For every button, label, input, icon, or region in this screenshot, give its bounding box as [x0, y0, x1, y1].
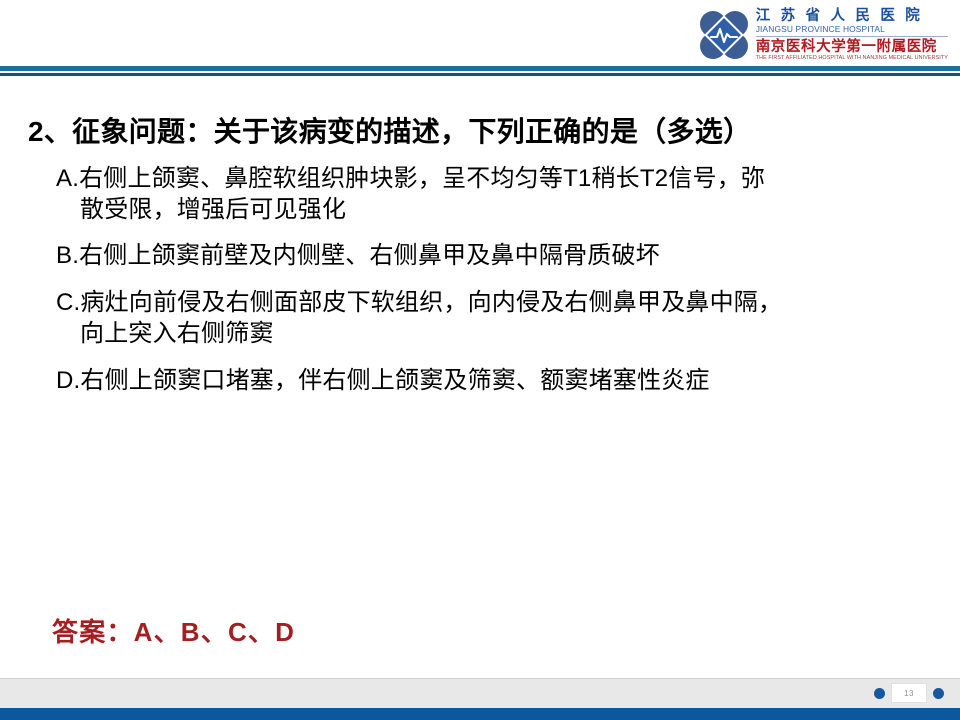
logo-chinese-name-secondary: 南京医科大学第一附属医院: [756, 40, 948, 55]
footer-bottom-bar: [0, 708, 960, 720]
option-a-line-1: A.右侧上颌窦、鼻腔软组织肿块影，呈不均匀等T1稍长T2信号，弥: [56, 164, 960, 195]
pager-dot-right-icon[interactable]: [933, 688, 944, 699]
option-item-d: D.右侧上颌窦口堵塞，伴右侧上颌窦及筛窦、额窦堵塞性炎症: [0, 366, 960, 397]
option-c-line-1: C.病灶向前侵及右侧面部皮下软组织，向内侵及右侧鼻甲及鼻中隔，: [56, 288, 960, 319]
slide: 江 苏 省 人 民 医 院 JIANGSU PROVINCE HOSPITAL …: [0, 0, 960, 720]
logo-english-name-primary: JIANGSU PROVINCE HOSPITAL: [756, 25, 948, 33]
hospital-logo: 江 苏 省 人 民 医 院 JIANGSU PROVINCE HOSPITAL …: [699, 8, 948, 62]
logo-chinese-name-primary: 江 苏 省 人 民 医 院: [756, 9, 948, 24]
options-list: A.右侧上颌窦、鼻腔软组织肿块影，呈不均匀等T1稍长T2信号，弥 散受限，增强后…: [0, 164, 960, 396]
option-item-c: C.病灶向前侵及右侧面部皮下软组织，向内侵及右侧鼻甲及鼻中隔， 向上突入右侧筛窦: [0, 288, 960, 349]
option-b-line-1: B.右侧上颌窦前壁及内侧壁、右侧鼻甲及鼻中隔骨质破坏: [56, 241, 960, 272]
footer-strip: [0, 678, 960, 709]
heartbeat-pulse-icon: [710, 25, 738, 45]
header-divider-thin: [0, 73, 960, 76]
option-item-b: B.右侧上颌窦前壁及内侧壁、右侧鼻甲及鼻中隔骨质破坏: [0, 241, 960, 272]
pager-dot-left-icon[interactable]: [874, 688, 885, 699]
page-indicator: 13: [874, 683, 944, 703]
slide-header: 江 苏 省 人 民 医 院 JIANGSU PROVINCE HOSPITAL …: [0, 0, 960, 72]
hospital-logo-text: 江 苏 省 人 民 医 院 JIANGSU PROVINCE HOSPITAL …: [756, 9, 948, 62]
page-number: 13: [891, 683, 927, 703]
option-a-line-2: 散受限，增强后可见强化: [80, 195, 960, 226]
logo-divider-rule: [756, 36, 948, 37]
hospital-flower-diamond-logo-icon: [699, 10, 749, 60]
logo-english-name-secondary: THE FIRST AFFILIATED HOSPITAL WITH NANJI…: [756, 56, 948, 61]
header-divider-thick: [0, 66, 960, 71]
option-c-line-2: 向上突入右侧筛窦: [80, 319, 960, 350]
answer-text: 答案：A、B、C、D: [52, 612, 295, 649]
option-item-a: A.右侧上颌窦、鼻腔软组织肿块影，呈不均匀等T1稍长T2信号，弥 散受限，增强后…: [0, 164, 960, 225]
option-d-line-1: D.右侧上颌窦口堵塞，伴右侧上颌窦及筛窦、额窦堵塞性炎症: [56, 366, 960, 397]
slide-body: 2、征象问题：关于该病变的描述，下列正确的是（多选） A.右侧上颌窦、鼻腔软组织…: [0, 110, 960, 412]
question-title: 2、征象问题：关于该病变的描述，下列正确的是（多选）: [28, 110, 960, 150]
